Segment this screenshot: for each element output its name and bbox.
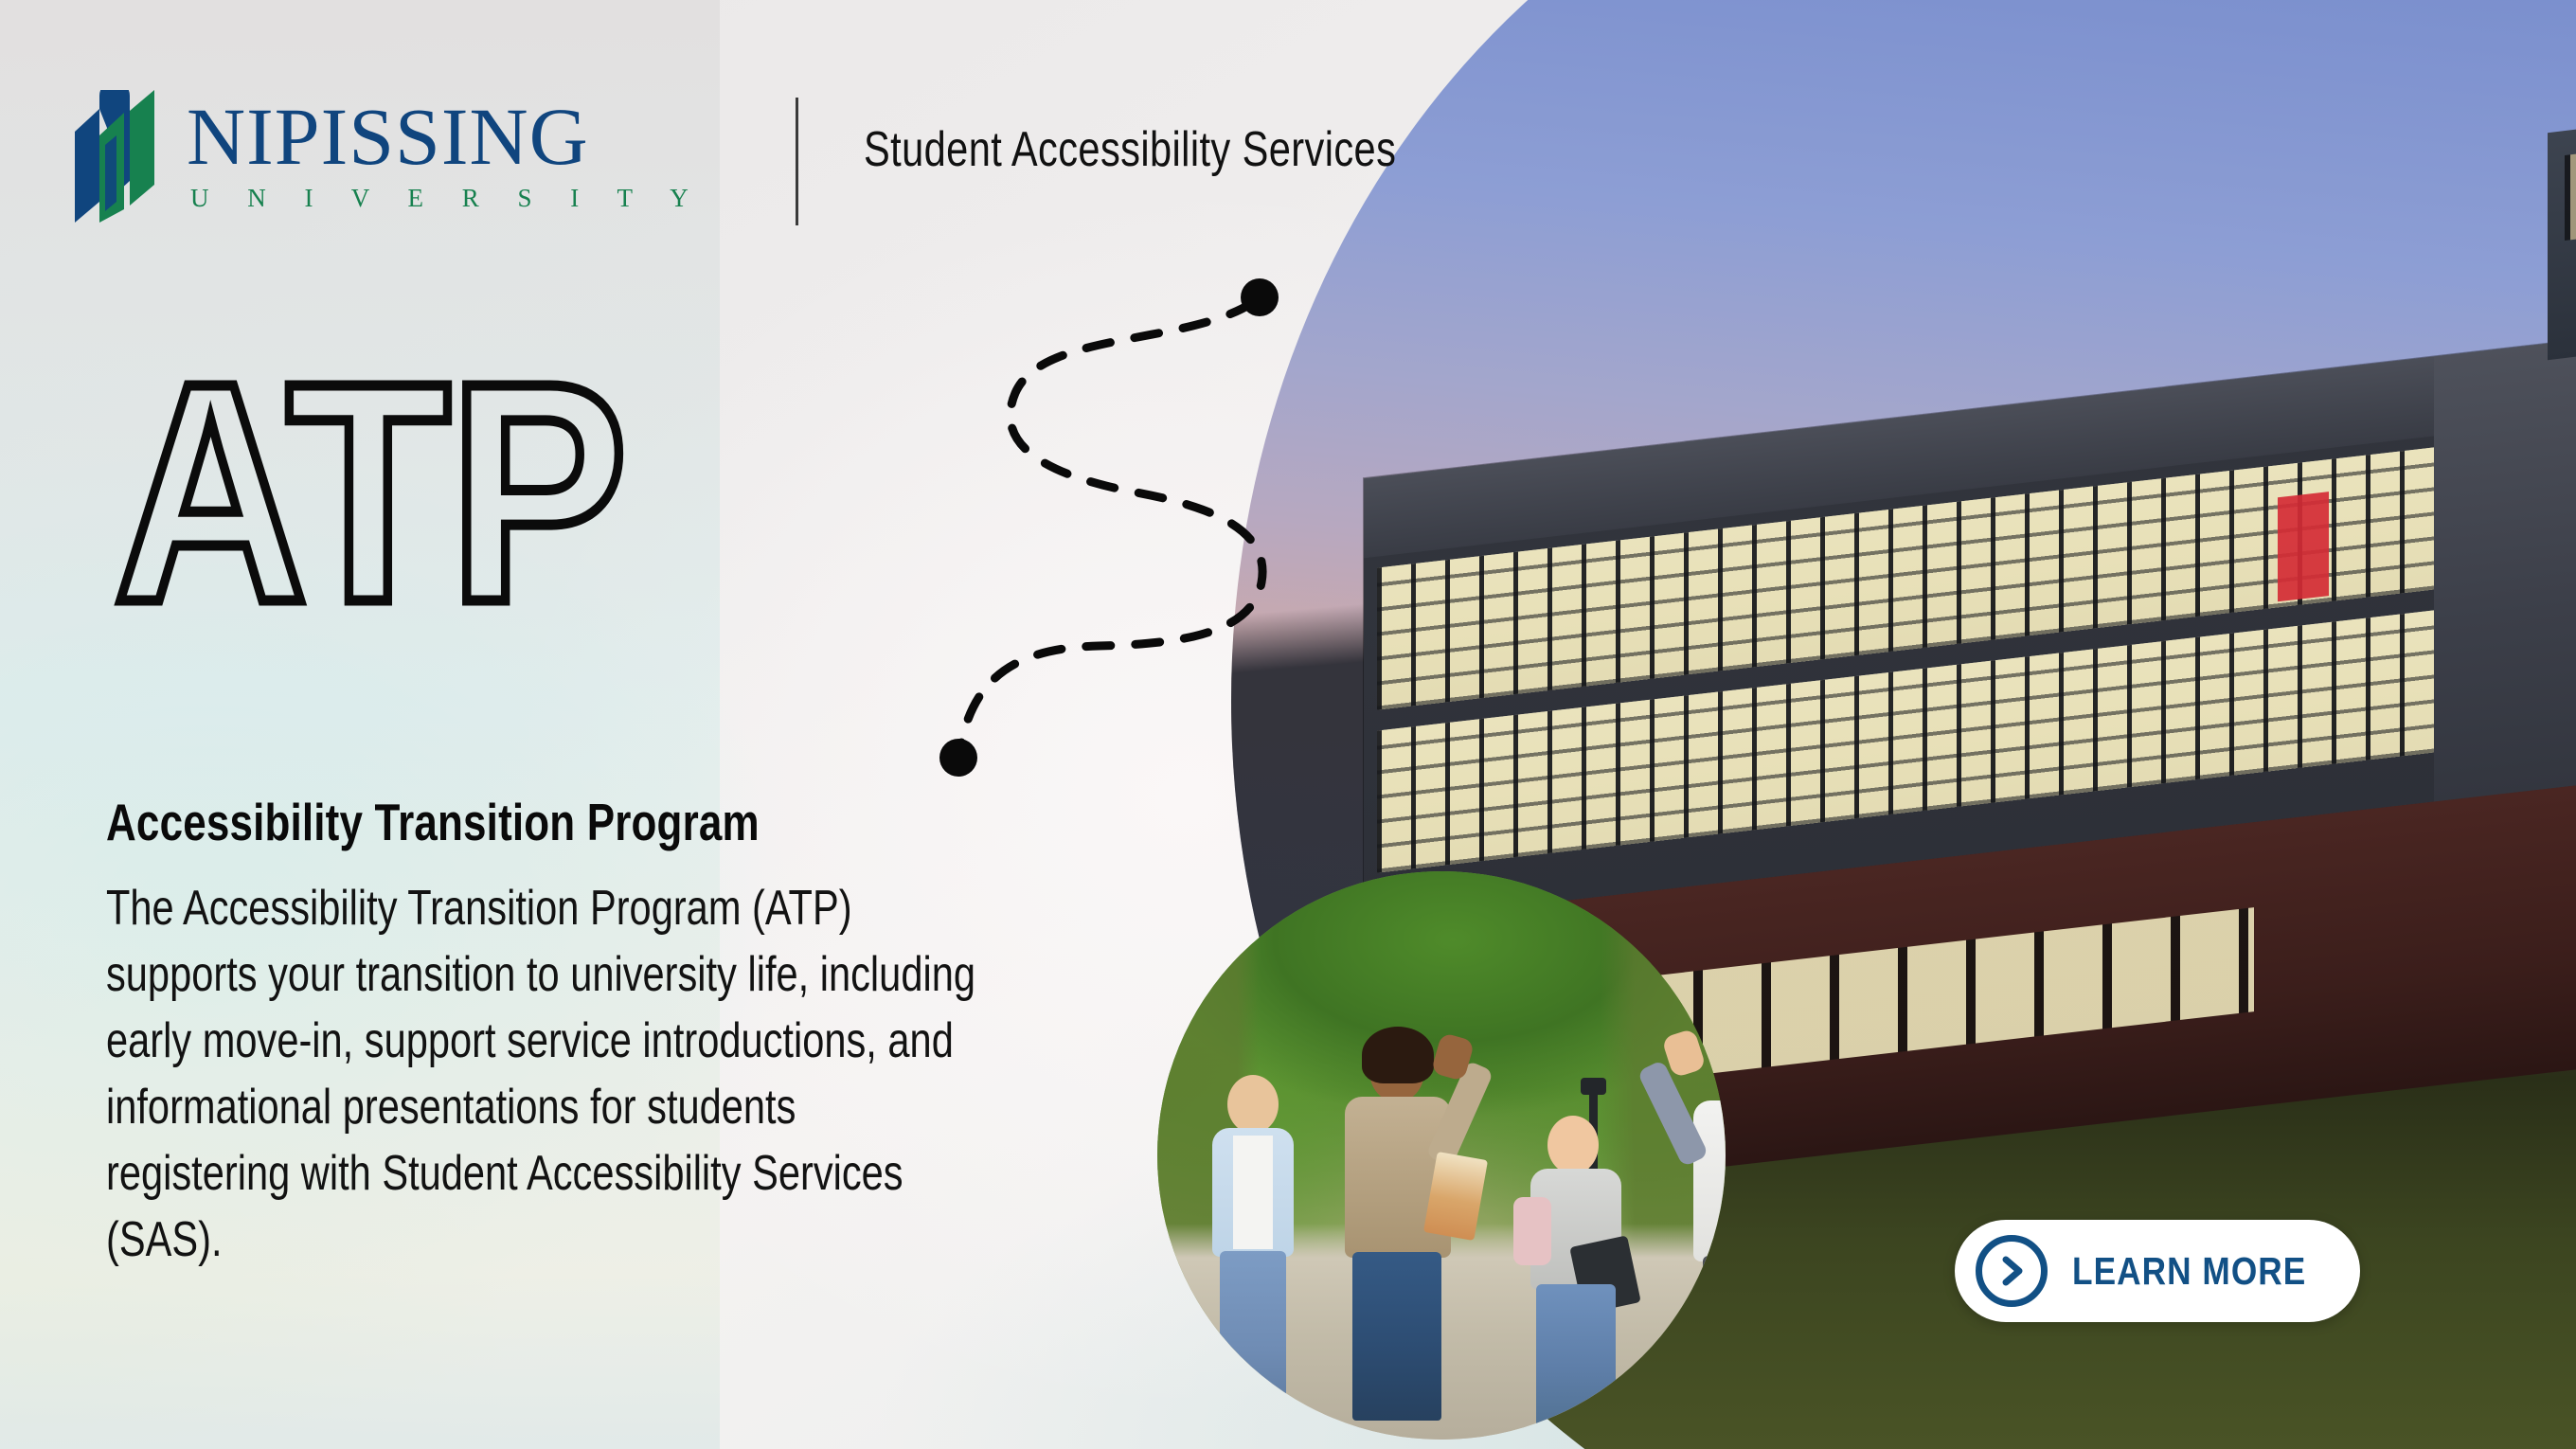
program-subtitle: Accessibility Transition Program xyxy=(106,792,760,852)
student-1-legs xyxy=(1220,1251,1286,1416)
building-side-wing xyxy=(2548,95,2576,361)
nipissing-logo[interactable]: NIPISSING U N I V E R S I T Y xyxy=(71,90,705,223)
header: NIPISSING U N I V E R S I T Y Student Ac… xyxy=(0,0,1610,237)
student-4-legs xyxy=(1703,1256,1726,1430)
learn-more-label: LEARN MORE xyxy=(2072,1249,2306,1294)
student-figure-2 xyxy=(1326,1013,1487,1421)
nipissing-university-label: U N I V E R S I T Y xyxy=(190,184,705,213)
path-endpoint-dot-icon xyxy=(1241,278,1279,316)
nipissing-n-mark-icon xyxy=(71,90,162,223)
dashed-winding-path-icon xyxy=(900,256,1373,805)
vertical-divider-icon xyxy=(796,98,798,225)
student-figure-4 xyxy=(1669,1013,1726,1430)
student-1-shirt xyxy=(1233,1136,1273,1249)
student-figure-3 xyxy=(1508,1099,1650,1440)
nipissing-logo-text: NIPISSING U N I V E R S I T Y xyxy=(187,99,705,212)
nipissing-wordmark: NIPISSING xyxy=(187,99,705,174)
student-2-hair xyxy=(1362,1027,1434,1083)
student-figure-1 xyxy=(1195,1075,1309,1416)
program-description: The Accessibility Transition Program (AT… xyxy=(106,876,977,1274)
student-3-head xyxy=(1547,1116,1599,1174)
students-photo xyxy=(1157,871,1726,1440)
path-endpoint-dot-icon xyxy=(939,739,977,777)
atp-acronym: ATP xyxy=(114,358,626,627)
student-2-legs xyxy=(1352,1252,1441,1421)
student-3-legs xyxy=(1536,1284,1616,1440)
poster-canvas: NIPISSING U N I V E R S I T Y Student Ac… xyxy=(0,0,2576,1449)
student-4-torso xyxy=(1693,1100,1726,1261)
student-1-head xyxy=(1227,1075,1279,1134)
student-4-hair xyxy=(1714,1029,1726,1080)
students-photo-image xyxy=(1157,871,1726,1440)
building-red-panel xyxy=(2278,492,2329,601)
department-title: Student Accessibility Services xyxy=(864,121,1396,178)
chevron-right-circle-icon xyxy=(1976,1235,2048,1307)
learn-more-button[interactable]: LEARN MORE xyxy=(1955,1220,2360,1322)
building-corner-block xyxy=(2434,336,2576,802)
atp-headline-wrap: ATP xyxy=(114,358,710,627)
building-facade xyxy=(1364,336,2576,923)
student-3-backpack xyxy=(1513,1197,1551,1265)
